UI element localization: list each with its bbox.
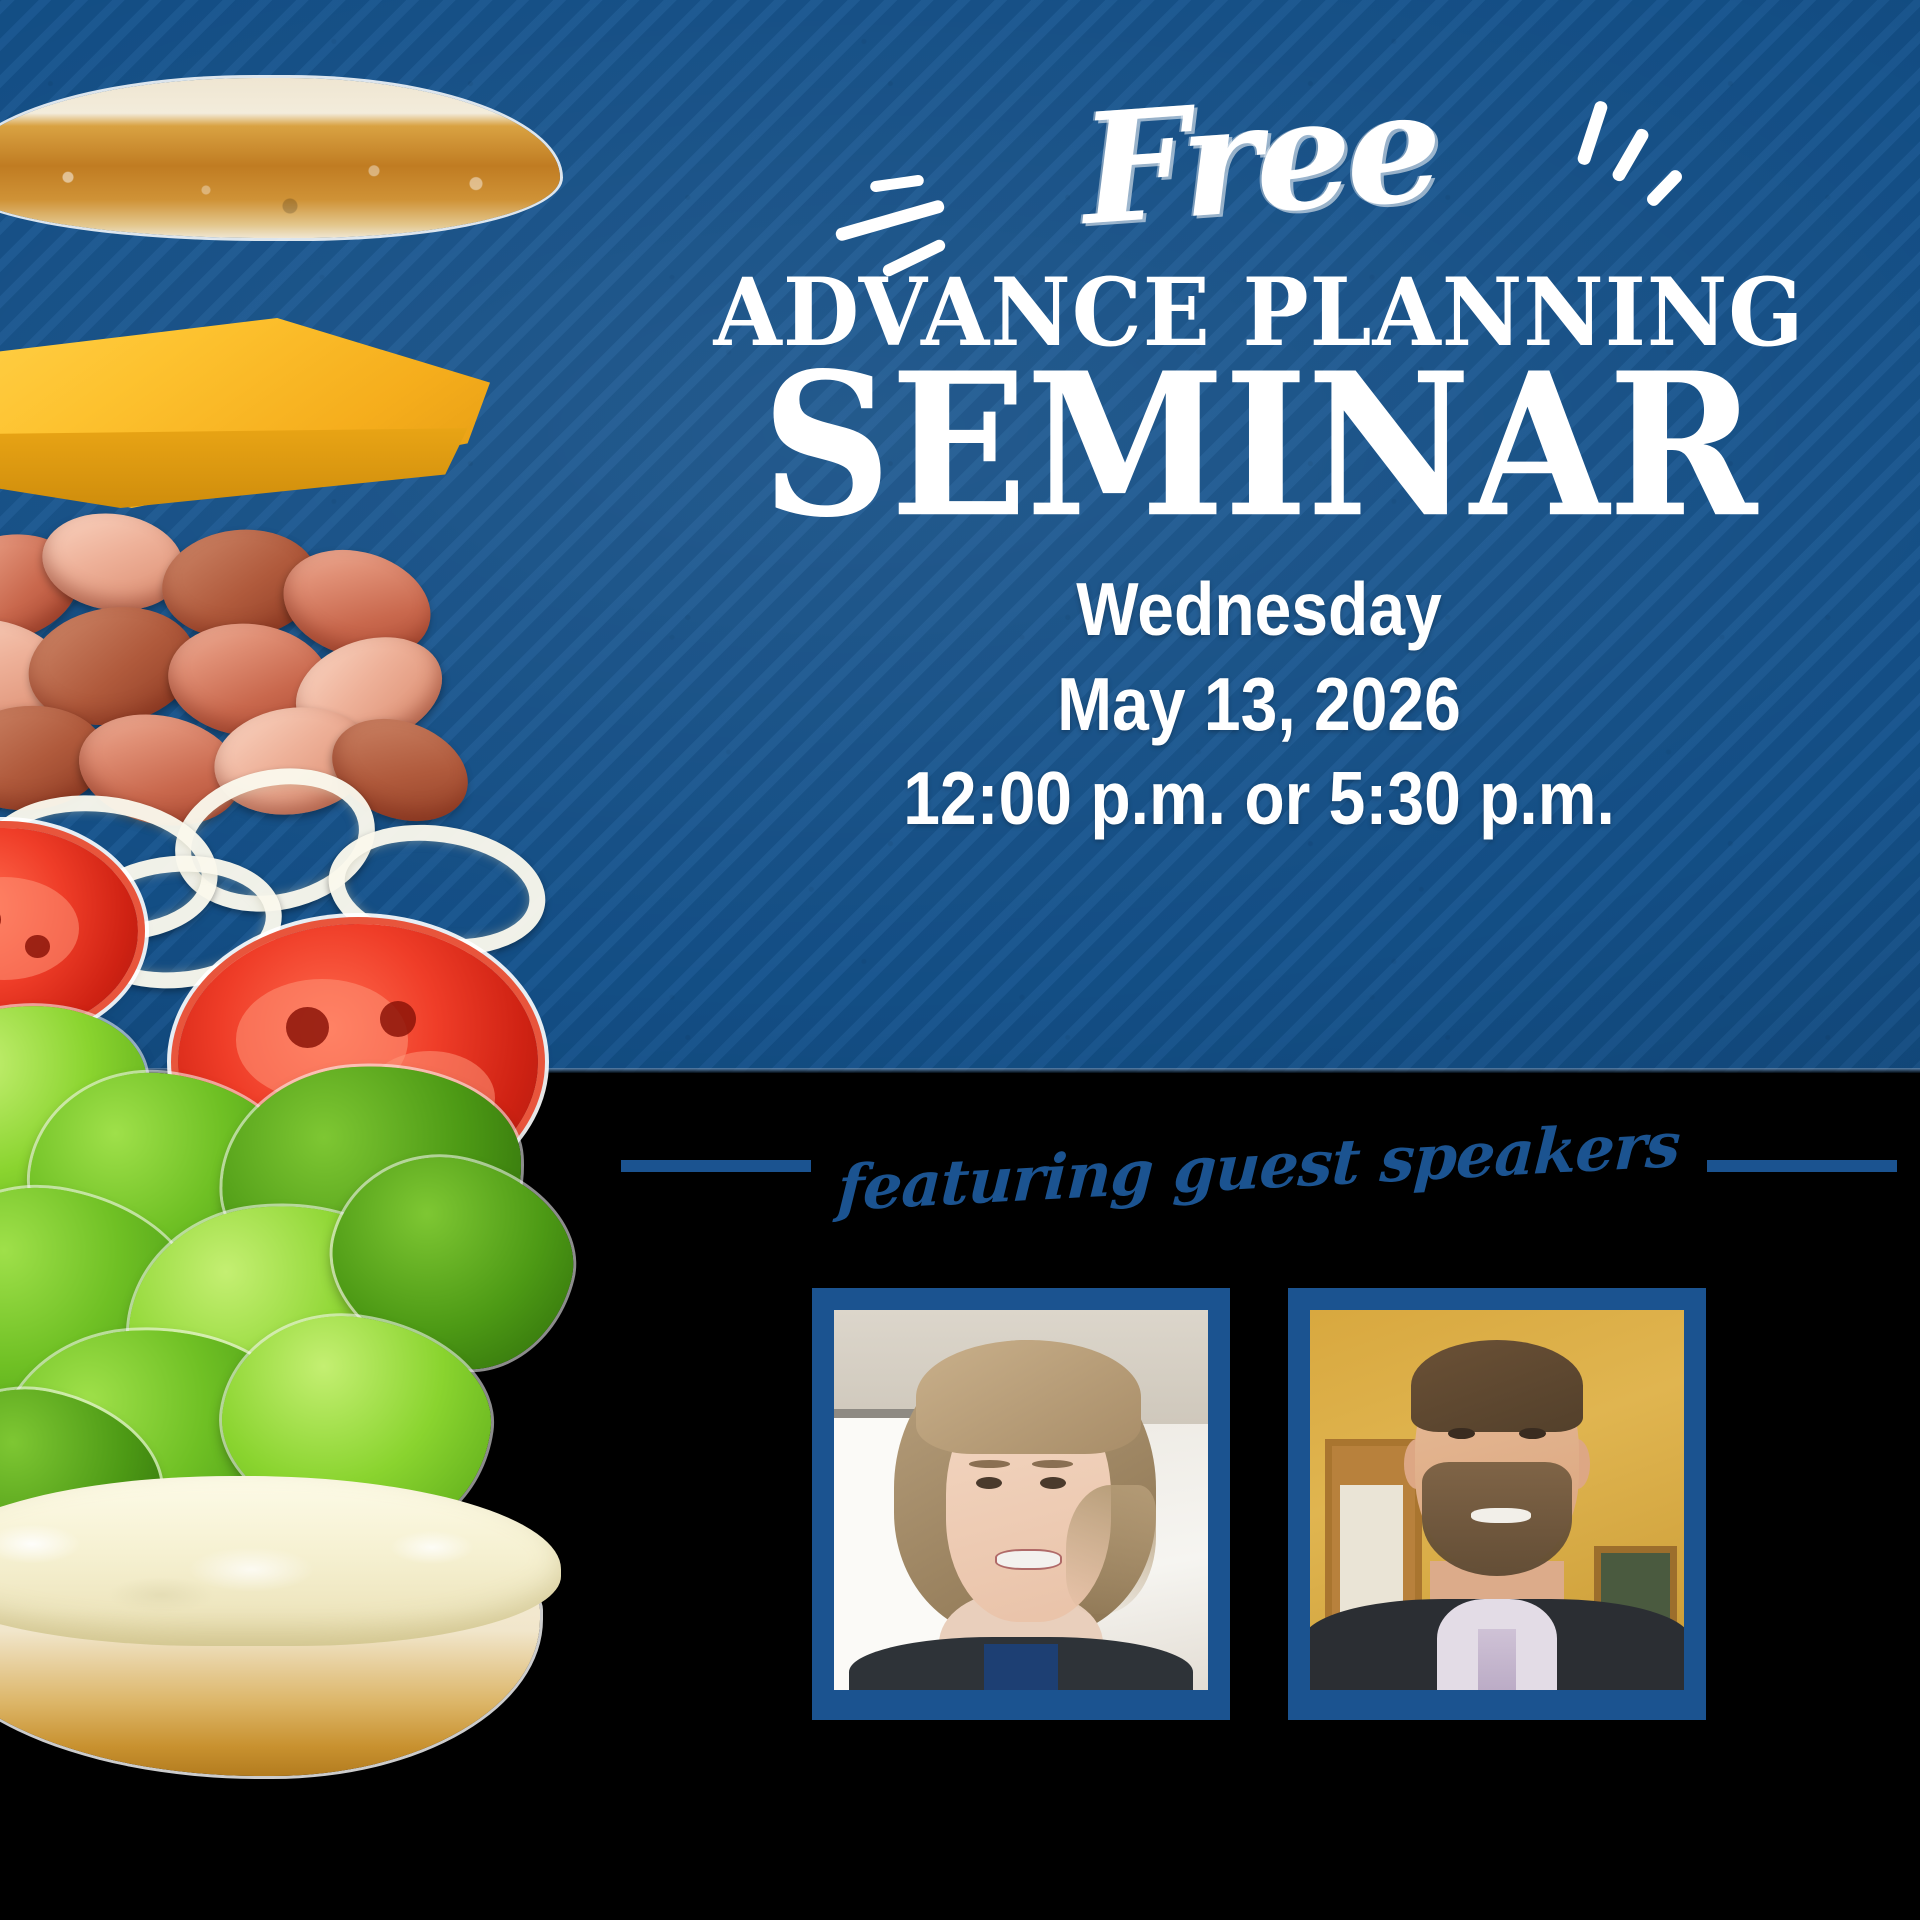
free-sparkle-mark-1 — [1576, 100, 1609, 167]
bread-top-texture — [0, 78, 560, 238]
portrait-bg-door-glass — [1340, 1485, 1404, 1614]
speaker-two-eye-right — [1519, 1428, 1545, 1439]
event-day: Wednesday — [677, 562, 1840, 657]
headline-block: ADVANCE PLANNING SEMINAR — [598, 268, 1920, 531]
free-sparkle-mark-2 — [1610, 127, 1650, 184]
free-dash-mark-1 — [869, 174, 924, 192]
speaker-two-smile — [1471, 1508, 1531, 1523]
headline-title: SEMINAR — [585, 352, 1920, 541]
tomato-seed — [25, 935, 49, 958]
mayonnaise-spread — [0, 1476, 561, 1646]
event-times: 12:00 p.m. or 5:30 p.m. — [677, 751, 1840, 846]
event-date: May 13, 2026 — [677, 657, 1840, 752]
exploded-sandwich-image — [0, 0, 600, 1920]
speaker-portrait-row — [598, 1288, 1920, 1708]
speaker-one-brow-right — [1032, 1460, 1073, 1468]
divider-rule-left — [621, 1160, 811, 1172]
featuring-guest-speakers-band: featuring guest speakers — [598, 1118, 1920, 1214]
speaker-one-collar — [984, 1644, 1059, 1690]
speaker-two-tie — [1478, 1629, 1515, 1690]
speaker-two-eye-left — [1448, 1428, 1474, 1439]
bread-top-slice — [0, 78, 560, 238]
cheese-slice — [0, 318, 490, 508]
speaker-one-hair-front — [916, 1340, 1140, 1454]
headline-text-column: Free ADVANCE PLANNING SEMINAR Wednesday … — [598, 0, 1920, 1073]
speaker-one-portrait — [834, 1310, 1208, 1690]
cheese-edge — [0, 428, 490, 508]
mayonnaise-texture — [0, 1476, 561, 1646]
free-dash-mark-2 — [834, 199, 945, 242]
speaker-one-brow-left — [969, 1460, 1010, 1468]
divider-rule-right — [1707, 1160, 1897, 1172]
featuring-guest-speakers-label: featuring guest speakers — [836, 1107, 1682, 1224]
speaker-one-smile — [995, 1549, 1063, 1570]
speaker-two-frame — [1288, 1288, 1706, 1720]
tomato-pulp — [0, 877, 79, 980]
promotional-poster: Free ADVANCE PLANNING SEMINAR Wednesday … — [0, 0, 1920, 1920]
tomato-seed — [286, 1007, 329, 1048]
bread-bottom-slice — [0, 1476, 540, 1776]
tomato-seed — [380, 1001, 416, 1037]
speaker-one-hair-wisp — [1066, 1485, 1156, 1614]
speaker-two-portrait — [1310, 1310, 1684, 1690]
speaker-two-hair — [1411, 1340, 1583, 1431]
free-sparkle-mark-3 — [1645, 168, 1685, 209]
free-badge-text: Free — [1077, 70, 1441, 246]
speaker-one-frame — [812, 1288, 1230, 1720]
event-datetime-block: Wednesday May 13, 2026 12:00 p.m. or 5:3… — [598, 562, 1920, 846]
